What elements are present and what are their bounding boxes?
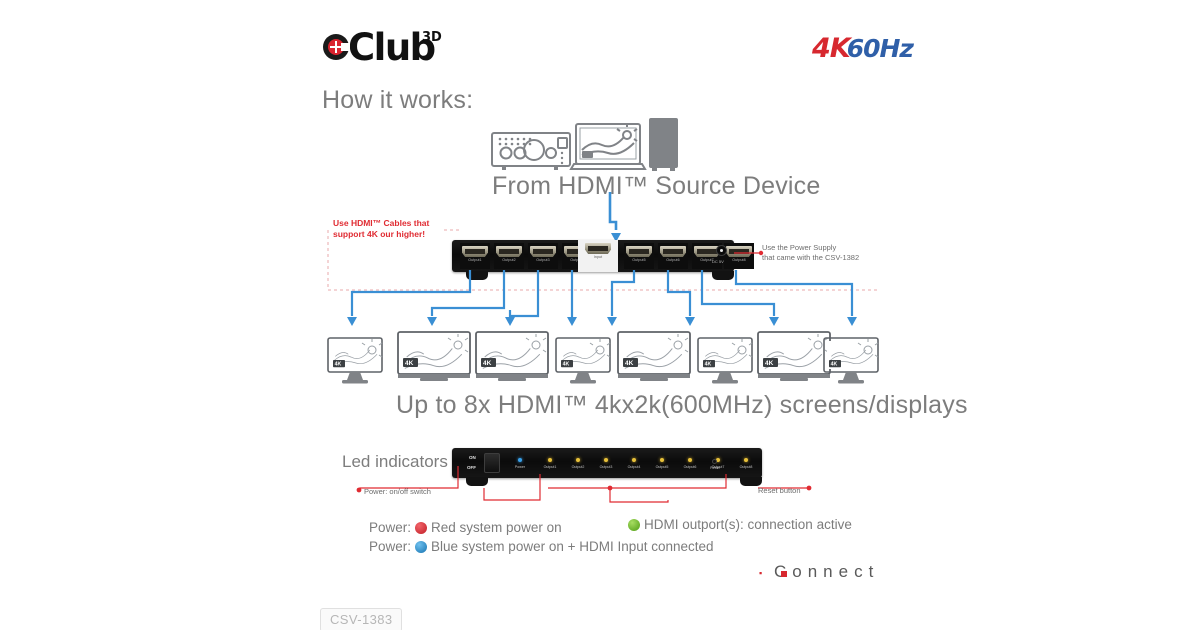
display-4 <box>556 338 610 384</box>
dc-power-jack[interactable] <box>716 245 727 256</box>
hdmi-connector-icon <box>660 246 686 257</box>
rear-port-input-label: Input <box>578 255 618 259</box>
displays-caption: Up to 8x HDMI™ 4kx2k(600MHz) screens/dis… <box>396 391 968 420</box>
rear-port-output3[interactable]: Output3 <box>528 243 558 269</box>
model-number-tag: CSV-1383 <box>320 608 402 630</box>
output-routing-lines <box>322 270 882 332</box>
legend-red-led-icon <box>415 522 427 534</box>
rear-port-output6-label: Output6 <box>658 258 688 262</box>
legend-row-red: Power:Red system power on <box>369 519 562 537</box>
rear-port-output2-label: Output2 <box>494 258 524 262</box>
source-caption: From HDMI™ Source Device <box>492 172 820 201</box>
legend-row-green: HDMI outport(s): connection active <box>628 516 852 534</box>
legend-row-blue: Power:Blue system power on + HDMI Input … <box>369 538 714 556</box>
display-7 <box>758 332 830 381</box>
diagram-canvas: Club 3D 4K60Hz How it works: <box>0 0 1200 630</box>
rear-port-output6[interactable]: Output6 <box>658 243 688 269</box>
resolution-badge: 4K60Hz <box>812 33 913 63</box>
dc-power-label: DC 5V <box>712 259 724 264</box>
rear-port-output5[interactable]: Output5 <box>624 243 654 269</box>
logo-c-notch <box>341 43 350 51</box>
legend-blue-text: Blue system power on + HDMI Input connec… <box>431 539 714 554</box>
legend-green-text: HDMI outport(s): connection active <box>644 517 852 532</box>
page-title: How it works: <box>322 86 473 115</box>
power-supply-note-line2: that came with the CSV-1382 <box>762 253 859 263</box>
legend-green-led-icon <box>628 519 640 531</box>
hdmi-connector-icon <box>462 246 488 257</box>
display-3 <box>476 332 548 381</box>
model-number-label: CSV-1383 <box>330 612 392 627</box>
rear-port-output2[interactable]: Output2 <box>494 243 524 269</box>
legend-blue-led-icon <box>415 541 427 553</box>
rear-port-output8-label: Output8 <box>724 258 754 262</box>
rear-port-output5-label: Output5 <box>624 258 654 262</box>
laptop-icon <box>571 124 645 169</box>
connect-red-dot-icon <box>781 571 787 577</box>
rear-port-output1-label: Output1 <box>460 258 490 262</box>
displays-row-illustration: 4K <box>322 330 882 386</box>
legend-red-prefix: Power: <box>369 520 411 535</box>
hdmi-connector-icon <box>530 246 556 257</box>
display-8 <box>824 338 878 384</box>
power-supply-note-line1: Use the Power Supply <box>762 243 859 253</box>
rear-port-input[interactable]: Input <box>578 240 618 272</box>
hdmi-connector-icon <box>585 243 611 254</box>
badge-60hz-label: 60Hz <box>847 34 913 63</box>
connect-label: Connect <box>774 562 879 581</box>
legend-red-text: Red system power on <box>431 520 562 535</box>
splitter-rear-panel: Output1 Output2 Output3 Output4 Input Ou… <box>452 240 734 272</box>
display-2 <box>398 332 470 381</box>
display-6 <box>698 338 752 384</box>
badge-4k-label: 4K <box>812 33 850 64</box>
hdmi-connector-icon <box>496 246 522 257</box>
club3d-logo: Club 3D <box>322 28 442 68</box>
display-1 <box>328 338 382 384</box>
display-5 <box>618 332 690 381</box>
legend-blue-prefix: Power: <box>369 539 411 554</box>
rear-port-output1[interactable]: Output1 <box>460 243 490 269</box>
power-supply-note: Use the Power Supply that came with the … <box>762 243 859 263</box>
rear-port-output3-label: Output3 <box>528 258 558 262</box>
logo-superscript: 3D <box>422 30 442 45</box>
source-devices-illustration <box>490 118 680 174</box>
power-switch-note: Power: on/off switch <box>364 487 431 497</box>
connect-wordmark: ▪ Connect <box>760 562 879 582</box>
connect-tick-icon: ▪ <box>759 568 762 578</box>
reset-button-note: Reset button <box>758 486 801 496</box>
tower-pc-icon <box>649 118 678 171</box>
av-receiver-icon <box>492 133 570 170</box>
hdmi-connector-icon <box>626 246 652 257</box>
